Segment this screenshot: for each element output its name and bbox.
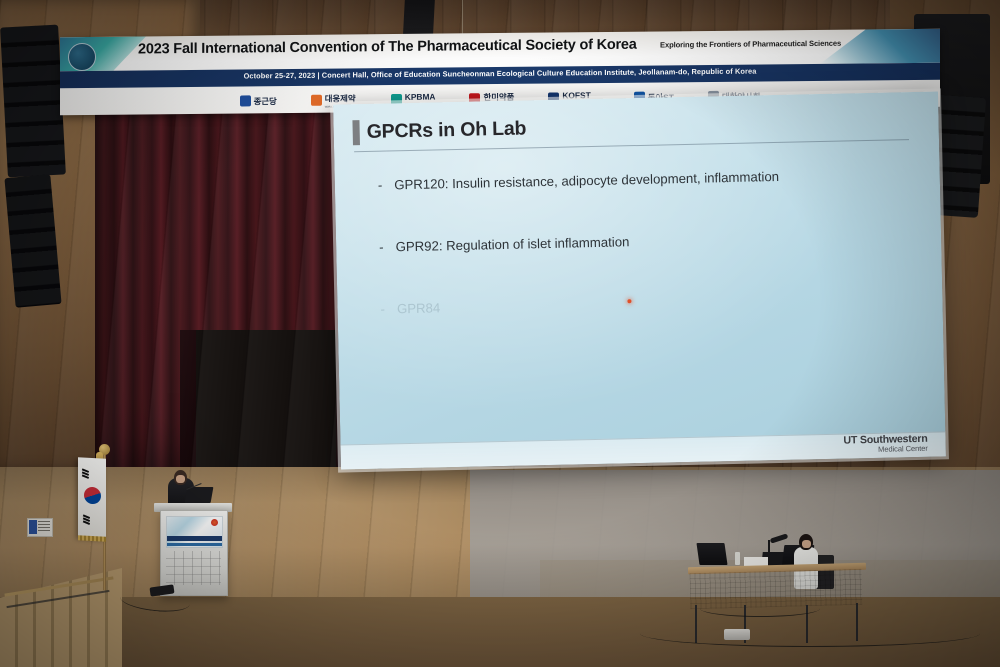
- lectern: [160, 510, 228, 596]
- sponsor-label: 종근당: [254, 95, 277, 107]
- taeguk-circle: [84, 487, 101, 505]
- poster-stripe-secondary: [167, 543, 222, 546]
- sponsor-logo-chong-kun-dang: 종근당: [240, 95, 277, 107]
- conference-poster-panel: [166, 516, 223, 548]
- chong-kun-dang-icon: [240, 95, 251, 106]
- av-operator-face: [802, 540, 811, 548]
- poster-accent-dot: [211, 519, 218, 526]
- podium-laptop: [185, 487, 214, 503]
- south-korea-flag: [78, 457, 106, 538]
- conference-hall-photo: 2023 Fall International Convention of Th…: [0, 0, 1000, 667]
- projection-screen: GPCRs in Oh Lab -GPR120: Insulin resista…: [333, 91, 946, 469]
- lectern-grille: [166, 551, 221, 585]
- ceiling-cable: [462, 0, 463, 36]
- water-bottle: [735, 552, 740, 565]
- daewoong-pharmaceutical-icon: [311, 95, 322, 106]
- screen-frame: [330, 88, 949, 472]
- line-array-speaker-left: [0, 25, 66, 178]
- ceiling-speaker-center: [403, 0, 435, 37]
- banner-title: 2023 Fall International Convention of Th…: [138, 37, 637, 58]
- poster-stripe: [167, 536, 222, 541]
- presenter-face: [176, 475, 185, 483]
- wheelchair-icon: [29, 520, 37, 534]
- pharmaceutical-society-of-korea-emblem: [68, 43, 96, 71]
- sign-text-lines: [38, 521, 50, 533]
- operator-laptop-1: [696, 543, 727, 565]
- wheelchair-accessibility-sign: [27, 518, 53, 537]
- banner-tagline: Exploring the Frontiers of Pharmaceutica…: [660, 39, 841, 50]
- floor-cable-right: [640, 620, 980, 647]
- floor-cable-desk: [700, 600, 820, 617]
